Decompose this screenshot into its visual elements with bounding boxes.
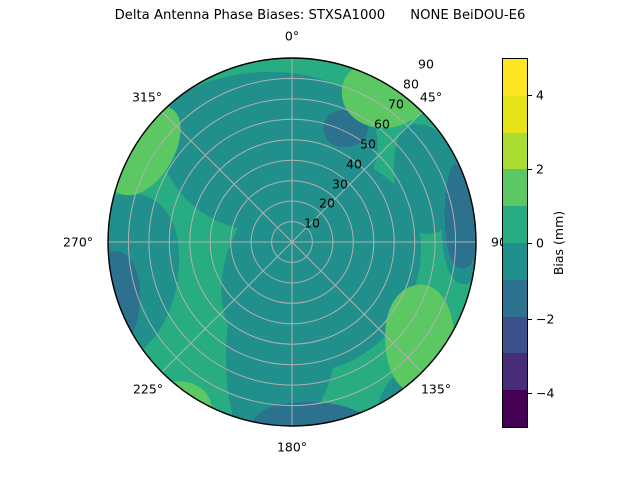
r-tick-90: 90 (418, 57, 434, 72)
theta-tick-180: 180° (277, 440, 307, 455)
theta-tick-0: 0° (285, 29, 299, 44)
r-tick-40: 40 (346, 157, 362, 172)
colorbar-tick-label-2: 2 (536, 162, 544, 177)
colorbar-band--2.5 (503, 317, 527, 354)
colorbar-band--4.5 (503, 390, 527, 427)
contour-band-green-right (385, 285, 454, 393)
chart-title: Delta Antenna Phase Biases: STXSA1000 NO… (0, 8, 640, 23)
colorbar-band--3.5 (503, 353, 527, 390)
theta-tick-225: 225° (133, 382, 163, 397)
colorbar-tick-mark-4 (528, 95, 532, 96)
colorbar-tick-mark--4 (528, 393, 532, 394)
colorbar-band-1.5 (503, 169, 527, 206)
polar-grid-spokes (108, 58, 476, 426)
r-tick-80: 80 (403, 77, 419, 92)
colorbar-tick-label--4: −4 (536, 386, 554, 401)
r-tick-50: 50 (360, 137, 376, 152)
colorbar-tick-mark--2 (528, 319, 532, 320)
colorbar-tick-label--2: −2 (536, 312, 554, 327)
polar-plot-area: 0° 45° 90 135° 180° 225° 270° 315° 10 20… (106, 56, 478, 428)
theta-tick-270: 270° (63, 235, 93, 250)
colorbar-band-3.5 (503, 96, 527, 133)
r-tick-60: 60 (374, 117, 390, 132)
contour-band-blue-right (445, 164, 478, 269)
theta-tick-135: 135° (421, 382, 451, 397)
colorbar-tick-label-0: 0 (536, 236, 544, 251)
colorbar-tick-mark-2 (528, 169, 532, 170)
figure-canvas: Delta Antenna Phase Biases: STXSA1000 NO… (0, 0, 640, 480)
r-tick-10: 10 (304, 216, 320, 231)
colorbar-band-2.5 (503, 133, 527, 170)
colorbar-axis-label: Bias (mm) (551, 211, 566, 275)
colorbar-tick-mark-0 (528, 243, 532, 244)
colorbar-tick-label-4: 4 (536, 88, 544, 103)
r-tick-70: 70 (388, 97, 404, 112)
colorbar-band--0.5 (503, 243, 527, 280)
colorbar-band-4.5 (503, 59, 527, 96)
polar-contour-svg (106, 56, 478, 428)
colorbar-band-0.5 (503, 206, 527, 243)
r-tick-30: 30 (332, 177, 348, 192)
colorbar-gradient-strip (502, 58, 528, 428)
theta-tick-45: 45° (420, 90, 442, 105)
r-tick-20: 20 (319, 196, 335, 211)
colorbar: −4 −2 0 2 4 (502, 58, 528, 428)
colorbar-band--1.5 (503, 280, 527, 317)
theta-tick-315: 315° (132, 90, 162, 105)
